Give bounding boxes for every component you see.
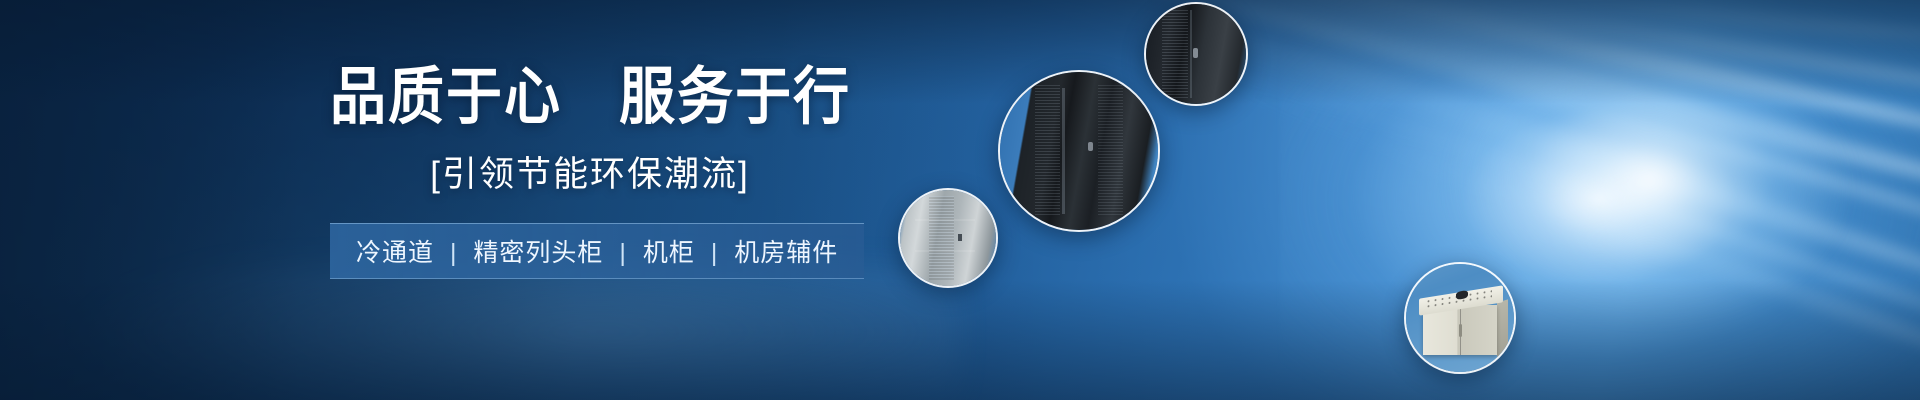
rack-vent-panel: [1035, 85, 1060, 218]
grey-cabinet-image: [900, 190, 996, 286]
tagline-item-0[interactable]: 冷通道: [356, 239, 434, 267]
headline-part-right: 服务于行: [619, 61, 851, 132]
tagline-item-2[interactable]: 机柜: [643, 239, 695, 267]
rack-door-handle: [1193, 48, 1198, 58]
product-bubble-grey-network-cabinet[interactable]: [898, 188, 998, 288]
tagline-bar: 冷通道 | 精密列头柜 | 机柜 | 机房辅件: [330, 223, 864, 279]
server-rack-pair-image: [1000, 72, 1158, 230]
cabinet-shelf-line: [915, 219, 975, 221]
rack-vent-panel: [1162, 10, 1188, 98]
tagline-separator: |: [442, 239, 466, 268]
product-bubble-black-server-rack[interactable]: [1144, 2, 1248, 106]
product-bubble-beige-equipment-cabinet[interactable]: [1404, 262, 1516, 374]
cabinet-door-handle: [1459, 324, 1462, 337]
tagline-item-3[interactable]: 机房辅件: [734, 239, 838, 267]
cabinet-shelf-line: [915, 250, 975, 252]
cabinet-side-panel: [1497, 299, 1508, 356]
product-bubble-server-rack-pair[interactable]: [998, 70, 1160, 232]
headline-part-left: 品质于心: [330, 61, 562, 132]
cabinet-door-handle: [958, 234, 962, 241]
banner-subline: [引领节能环保潮流]: [330, 146, 850, 197]
tagline-item-1[interactable]: 精密列头柜: [473, 239, 603, 267]
hero-banner: 品质于心 服务于行 [引领节能环保潮流] 冷通道 | 精密列头柜 | 机柜 | …: [0, 0, 1920, 400]
tagline-text: 冷通道 | 精密列头柜 | 机柜 | 机房辅件: [356, 233, 838, 269]
cabinet-vent-panel: [929, 196, 954, 280]
beige-cabinet-image: [1406, 264, 1514, 372]
banner-copy: 品质于心 服务于行 [引领节能环保潮流] 冷通道 | 精密列头柜 | 机柜 | …: [330, 62, 850, 279]
black-server-rack-image: [1146, 4, 1246, 104]
tagline-separator: |: [703, 239, 727, 268]
rack-door-handle: [1088, 142, 1093, 151]
rack-divider: [1190, 10, 1192, 98]
rack-divider: [1062, 88, 1065, 214]
banner-headline: 品质于心 服务于行: [330, 62, 850, 131]
rack-vent-panel: [1098, 85, 1123, 218]
tagline-separator: |: [611, 239, 635, 268]
